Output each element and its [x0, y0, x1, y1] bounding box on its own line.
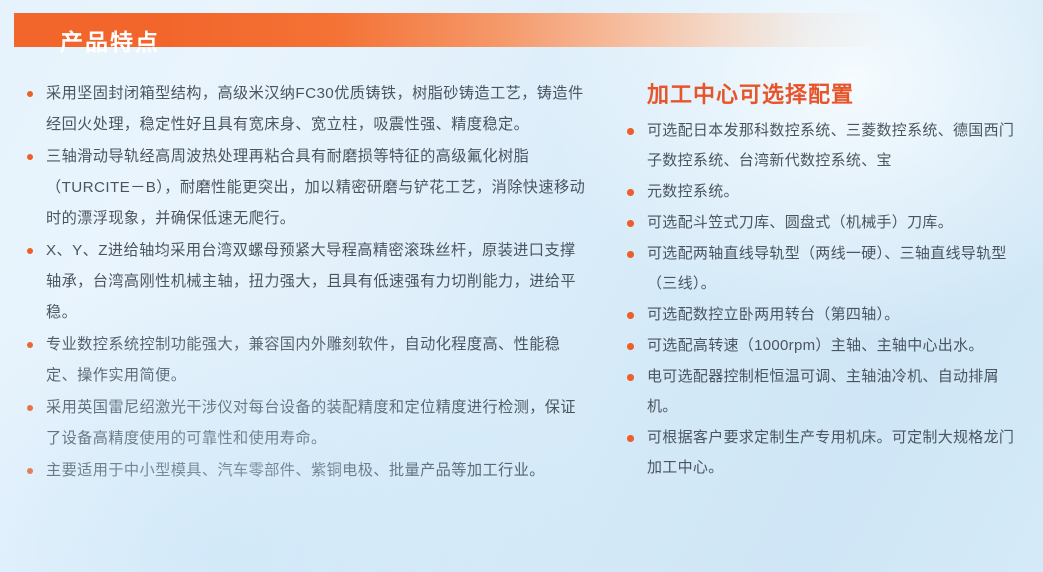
list-item: 可选配日本发那科数控系统、三菱数控系统、德国西门子数控系统、台湾新代数控系统、宝: [618, 116, 1023, 176]
list-item: 专业数控系统控制功能强大，兼容国内外雕刻软件，自动化程度高、性能稳定、操作实用简…: [20, 329, 590, 391]
bullet-dot-icon: [27, 342, 33, 348]
list-item-text: 可选配数控立卧两用转台（第四轴）。: [647, 300, 1023, 330]
product-features-list: 采用坚固封闭箱型结构，高级米汉纳FC30优质铸铁，树脂砂铸造工艺，铸造件经回火处…: [20, 78, 590, 486]
list-item: 主要适用于中小型模具、汽车零部件、紫铜电极、批量产品等加工行业。: [20, 455, 590, 486]
bullet-dot-icon: [27, 248, 33, 254]
section-header-bar: 产品特点: [14, 13, 959, 47]
right-column: 加工中心可选择配置 可选配日本发那科数控系统、三菱数控系统、德国西门子数控系统、…: [618, 66, 1023, 484]
list-item-text: 主要适用于中小型模具、汽车零部件、紫铜电极、批量产品等加工行业。: [46, 455, 590, 486]
list-item: 采用英国雷尼绍激光干涉仪对每台设备的装配精度和定位精度进行检测，保证了设备高精度…: [20, 392, 590, 454]
list-item-text: 可选配高转速（1000rpm）主轴、主轴中心出水。: [647, 331, 1023, 361]
optional-config-heading: 加工中心可选择配置: [647, 80, 1023, 110]
list-item: 可根据客户要求定制生产专用机床。可定制大规格龙门加工中心。: [618, 423, 1023, 483]
bullet-dot-icon: [627, 220, 634, 227]
list-item-text: 电可选配器控制柜恒温可调、主轴油冷机、自动排屑机。: [647, 362, 1023, 422]
product-features-page: 产品特点 采用坚固封闭箱型结构，高级米汉纳FC30优质铸铁，树脂砂铸造工艺，铸造…: [0, 0, 1043, 572]
bullet-dot-icon: [627, 251, 634, 258]
list-item: 可选配两轴直线导轨型（两线一硬）、三轴直线导轨型（三线）。: [618, 239, 1023, 299]
content-area: 采用坚固封闭箱型结构，高级米汉纳FC30优质铸铁，树脂砂铸造工艺，铸造件经回火处…: [0, 66, 1043, 572]
list-item-text: 元数控系统。: [647, 177, 1023, 207]
list-item: 可选配高转速（1000rpm）主轴、主轴中心出水。: [618, 331, 1023, 361]
list-item-text: 可选配两轴直线导轨型（两线一硬）、三轴直线导轨型（三线）。: [647, 239, 1023, 299]
page-title: 产品特点: [60, 25, 160, 59]
list-item: 三轴滑动导轨经高周波热处理再粘合具有耐磨损等特征的高级氟化树脂（TURCITE－…: [20, 141, 590, 234]
bullet-dot-icon: [627, 374, 634, 381]
list-item-text: 可选配日本发那科数控系统、三菱数控系统、德国西门子数控系统、台湾新代数控系统、宝: [647, 116, 1023, 176]
list-item-text: 采用英国雷尼绍激光干涉仪对每台设备的装配精度和定位精度进行检测，保证了设备高精度…: [46, 392, 590, 454]
bullet-dot-icon: [27, 154, 33, 160]
optional-config-list: 可选配日本发那科数控系统、三菱数控系统、德国西门子数控系统、台湾新代数控系统、宝…: [618, 116, 1023, 483]
bullet-dot-icon: [627, 128, 634, 135]
list-item-text: X、Y、Z进给轴均采用台湾双螺母预紧大导程高精密滚珠丝杆，原装进口支撑轴承，台湾…: [46, 235, 590, 328]
list-item: 电可选配器控制柜恒温可调、主轴油冷机、自动排屑机。: [618, 362, 1023, 422]
list-item: X、Y、Z进给轴均采用台湾双螺母预紧大导程高精密滚珠丝杆，原装进口支撑轴承，台湾…: [20, 235, 590, 328]
bullet-dot-icon: [627, 312, 634, 319]
bullet-dot-icon: [627, 343, 634, 350]
list-item-text: 可根据客户要求定制生产专用机床。可定制大规格龙门加工中心。: [647, 423, 1023, 483]
list-item: 可选配斗笠式刀库、圆盘式（机械手）刀库。: [618, 208, 1023, 238]
bullet-dot-icon: [627, 435, 634, 442]
list-item: 采用坚固封闭箱型结构，高级米汉纳FC30优质铸铁，树脂砂铸造工艺，铸造件经回火处…: [20, 78, 590, 140]
bullet-dot-icon: [27, 468, 33, 474]
list-item-text: 可选配斗笠式刀库、圆盘式（机械手）刀库。: [647, 208, 1023, 238]
list-item: 可选配数控立卧两用转台（第四轴）。: [618, 300, 1023, 330]
list-item-text: 专业数控系统控制功能强大，兼容国内外雕刻软件，自动化程度高、性能稳定、操作实用简…: [46, 329, 590, 391]
list-item: 元数控系统。: [618, 177, 1023, 207]
list-item-text: 采用坚固封闭箱型结构，高级米汉纳FC30优质铸铁，树脂砂铸造工艺，铸造件经回火处…: [46, 78, 590, 140]
bullet-dot-icon: [627, 189, 634, 196]
bullet-dot-icon: [27, 405, 33, 411]
left-column: 采用坚固封闭箱型结构，高级米汉纳FC30优质铸铁，树脂砂铸造工艺，铸造件经回火处…: [20, 78, 590, 487]
bullet-dot-icon: [27, 91, 33, 97]
list-item-text: 三轴滑动导轨经高周波热处理再粘合具有耐磨损等特征的高级氟化树脂（TURCITE－…: [46, 141, 590, 234]
